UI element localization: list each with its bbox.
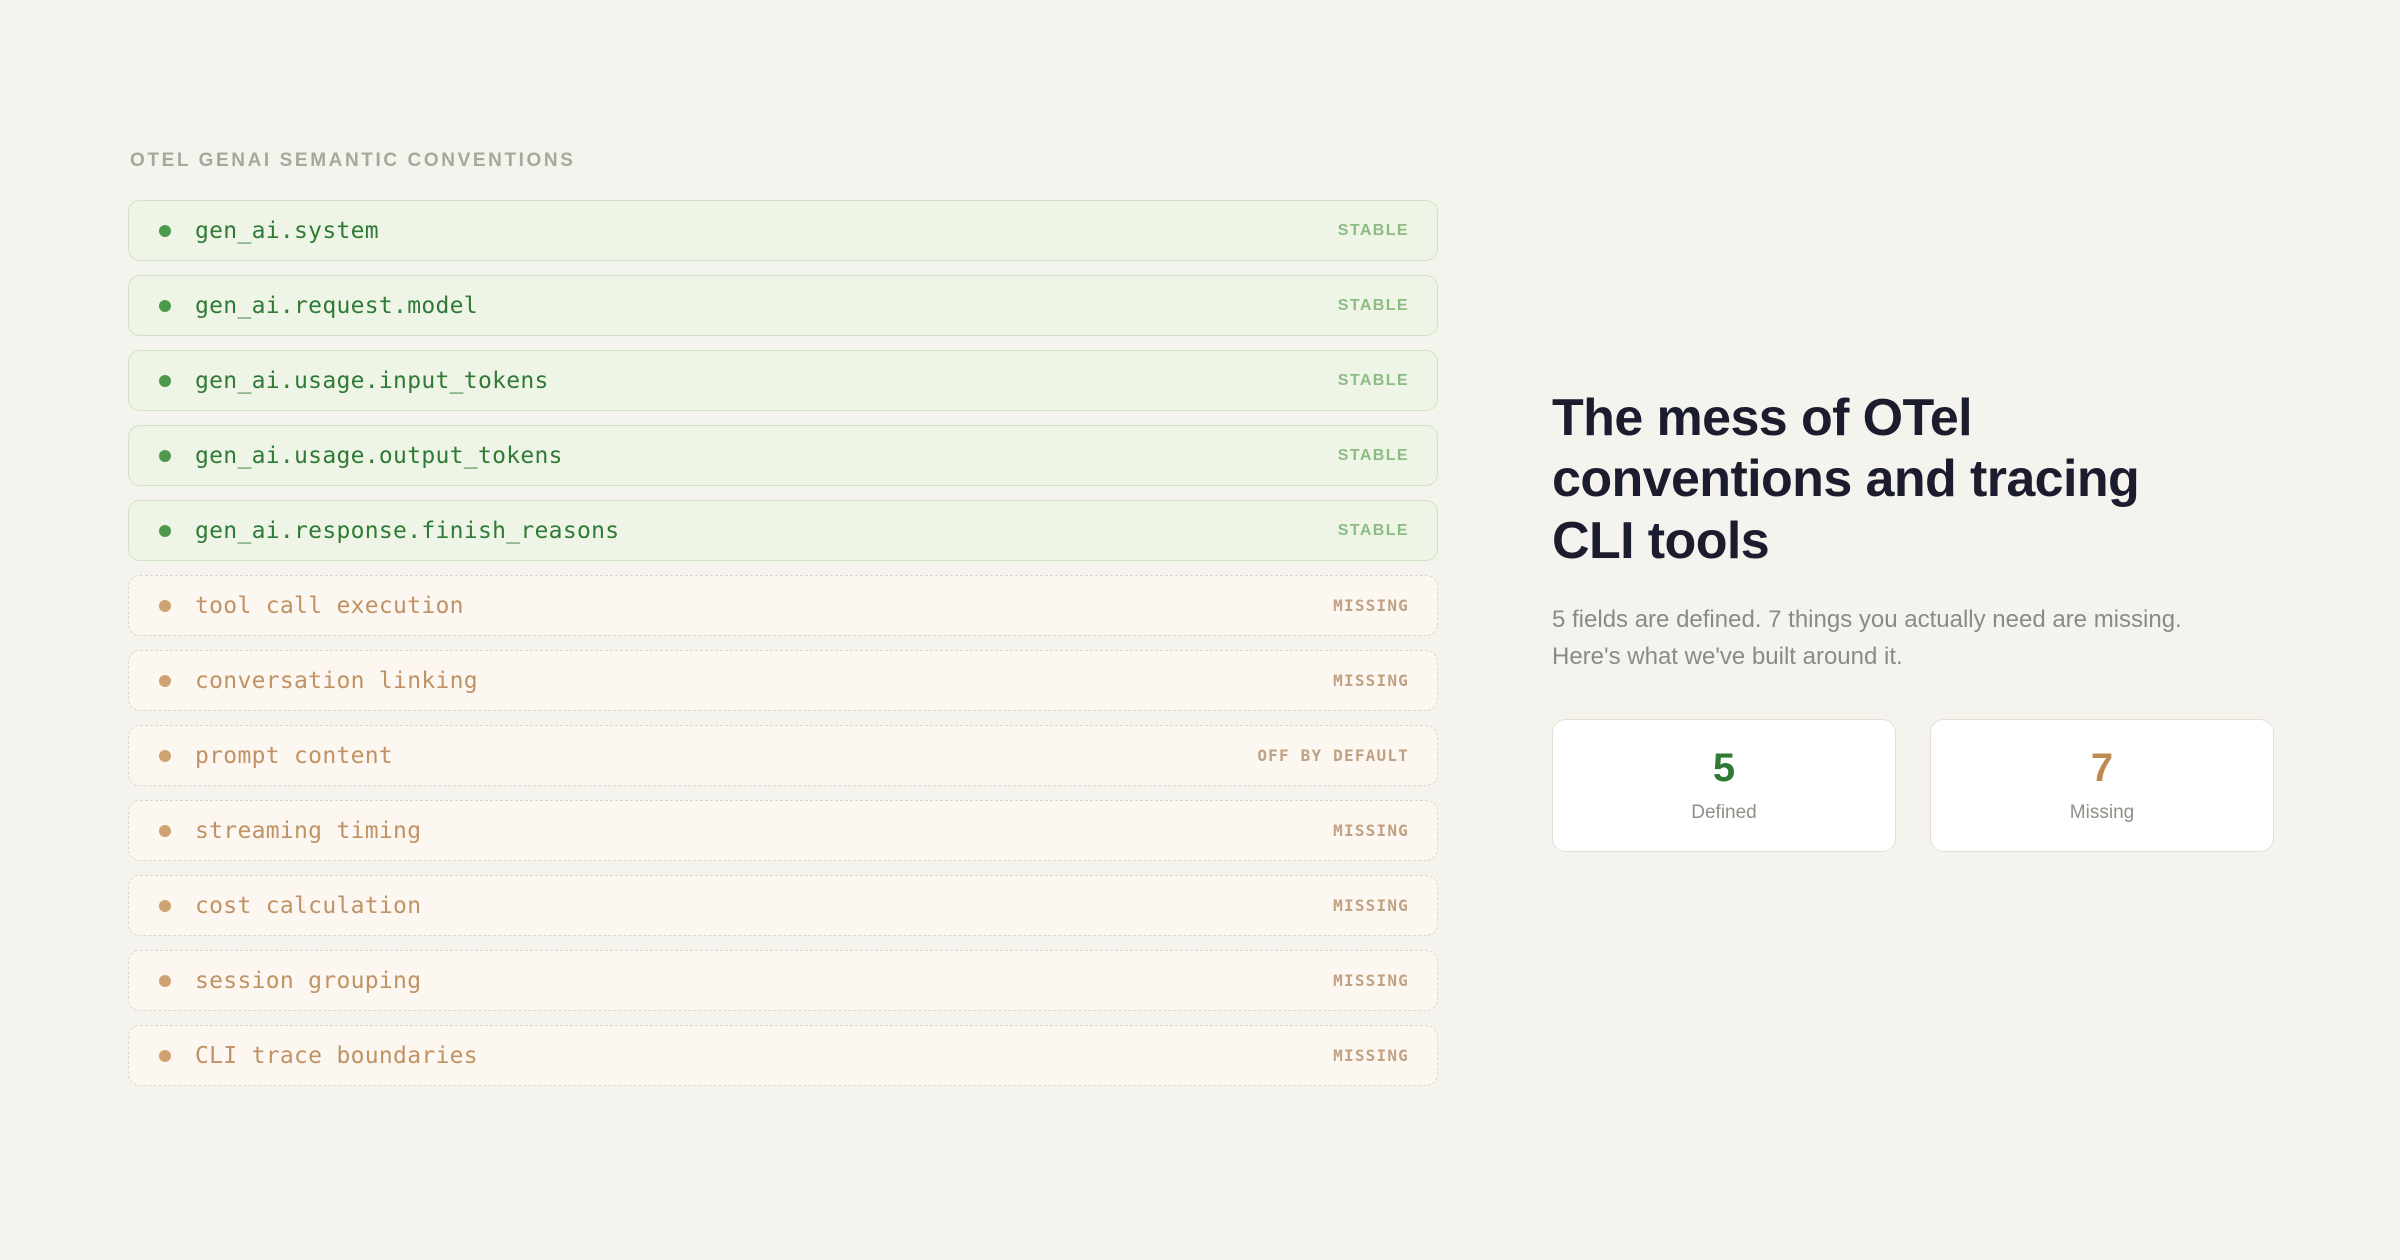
convention-row[interactable]: gen_ai.request.modelSTABLE	[128, 275, 1438, 336]
status-dot-missing-icon	[159, 900, 171, 912]
status-dot-stable-icon	[159, 525, 171, 537]
status-dot-stable-icon	[159, 375, 171, 387]
slide-root: OTEL GENAI SEMANTIC CONVENTIONS gen_ai.s…	[0, 0, 2400, 1260]
convention-name: CLI trace boundaries	[195, 1043, 478, 1069]
conventions-list: gen_ai.systemSTABLEgen_ai.request.modelS…	[128, 200, 1438, 1086]
status-badge: OFF BY DEFAULT	[1257, 746, 1409, 765]
stat-card: 7Missing	[1930, 719, 2274, 852]
convention-name: conversation linking	[195, 668, 478, 694]
convention-row[interactable]: prompt contentOFF BY DEFAULT	[128, 725, 1438, 786]
page-subtitle: 5 fields are defined. 7 things you actua…	[1552, 602, 2192, 675]
convention-name: tool call execution	[195, 593, 464, 619]
status-badge: MISSING	[1333, 596, 1409, 615]
convention-row[interactable]: gen_ai.usage.output_tokensSTABLE	[128, 425, 1438, 486]
convention-row[interactable]: gen_ai.response.finish_reasonsSTABLE	[128, 500, 1438, 561]
status-badge: STABLE	[1338, 297, 1409, 315]
status-dot-missing-icon	[159, 825, 171, 837]
convention-row[interactable]: conversation linkingMISSING	[128, 650, 1438, 711]
status-badge: MISSING	[1333, 1046, 1409, 1065]
stat-label: Defined	[1691, 802, 1757, 824]
convention-name: streaming timing	[195, 818, 421, 844]
status-badge: STABLE	[1338, 447, 1409, 465]
stat-value: 5	[1713, 748, 1735, 788]
status-dot-stable-icon	[159, 450, 171, 462]
status-badge: MISSING	[1333, 821, 1409, 840]
stat-card: 5Defined	[1552, 719, 1896, 852]
convention-name: session grouping	[195, 968, 421, 994]
convention-name: gen_ai.request.model	[195, 293, 478, 319]
stat-label: Missing	[2070, 802, 2134, 824]
section-label: OTEL GENAI SEMANTIC CONVENTIONS	[130, 150, 1438, 172]
convention-row[interactable]: streaming timingMISSING	[128, 800, 1438, 861]
convention-row[interactable]: tool call executionMISSING	[128, 575, 1438, 636]
convention-name: prompt content	[195, 743, 393, 769]
status-dot-missing-icon	[159, 1050, 171, 1062]
convention-name: gen_ai.usage.input_tokens	[195, 368, 549, 394]
status-dot-stable-icon	[159, 225, 171, 237]
convention-row[interactable]: gen_ai.usage.input_tokensSTABLE	[128, 350, 1438, 411]
summary-panel: The mess of OTel conventions and tracing…	[1552, 388, 2274, 852]
status-badge: STABLE	[1338, 522, 1409, 540]
status-dot-missing-icon	[159, 750, 171, 762]
convention-name: gen_ai.response.finish_reasons	[195, 518, 619, 544]
convention-row[interactable]: cost calculationMISSING	[128, 875, 1438, 936]
page-title: The mess of OTel conventions and tracing…	[1552, 388, 2212, 572]
status-badge: MISSING	[1333, 896, 1409, 915]
status-dot-missing-icon	[159, 675, 171, 687]
status-dot-missing-icon	[159, 600, 171, 612]
status-badge: MISSING	[1333, 671, 1409, 690]
convention-name: gen_ai.system	[195, 218, 379, 244]
status-badge: MISSING	[1333, 971, 1409, 990]
convention-row[interactable]: gen_ai.systemSTABLE	[128, 200, 1438, 261]
status-dot-missing-icon	[159, 975, 171, 987]
conventions-panel: OTEL GENAI SEMANTIC CONVENTIONS gen_ai.s…	[128, 150, 1438, 1086]
status-dot-stable-icon	[159, 300, 171, 312]
convention-name: gen_ai.usage.output_tokens	[195, 443, 563, 469]
convention-row[interactable]: CLI trace boundariesMISSING	[128, 1025, 1438, 1086]
stat-cards: 5Defined7Missing	[1552, 719, 2274, 852]
stat-value: 7	[2091, 748, 2113, 788]
convention-name: cost calculation	[195, 893, 421, 919]
convention-row[interactable]: session groupingMISSING	[128, 950, 1438, 1011]
status-badge: STABLE	[1338, 222, 1409, 240]
status-badge: STABLE	[1338, 372, 1409, 390]
